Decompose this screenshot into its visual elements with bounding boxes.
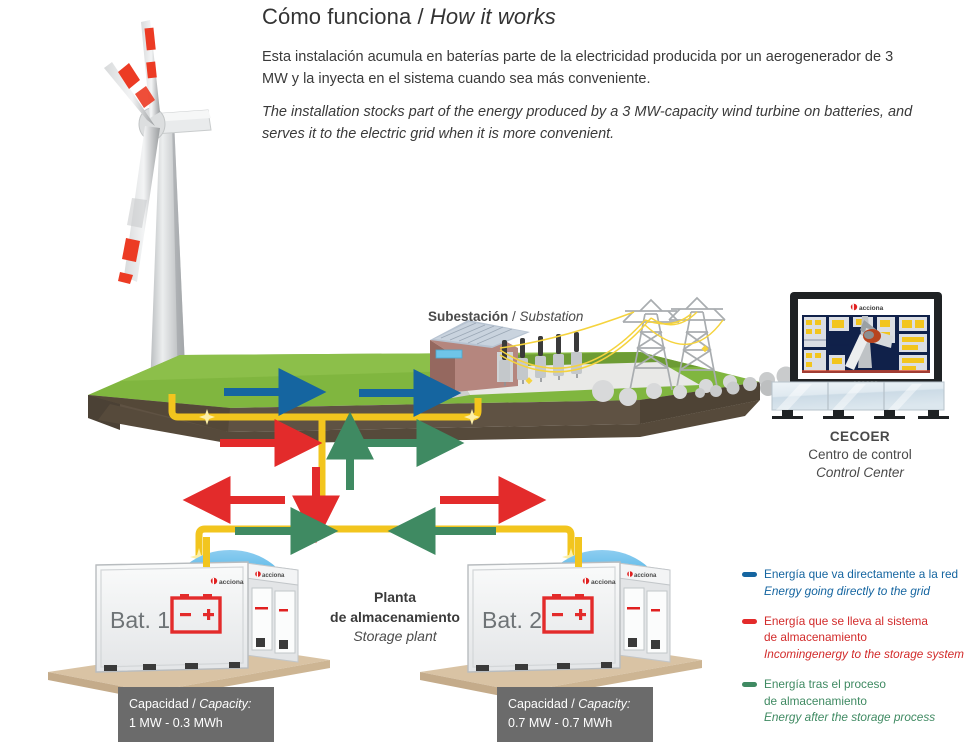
capacity-1-separator: / (189, 697, 199, 711)
legend-blue-en: Energy going directly to the grid (764, 583, 958, 600)
legend-green-es-line2: de almacenamiento (764, 693, 935, 710)
capacity-box-2-title: Capacidad / Capacity: (508, 695, 642, 714)
legend-red-en: Incomingenergy to the storage system (764, 646, 964, 663)
wind-turbine (104, 20, 211, 396)
capacity-2-label-en: Capacity: (578, 697, 630, 711)
infographic-canvas: Cómo funciona / How it works Esta instal… (0, 0, 969, 754)
legend-item-green: Energía tras el proceso de almacenamient… (742, 676, 969, 726)
capacity-1-label-es: Capacidad (129, 697, 189, 711)
svg-text:acciona: acciona (591, 579, 616, 586)
substation-label: Subestación / Substation (428, 309, 583, 324)
storage-label-line1: Planta (320, 588, 470, 608)
control-center-monitor: acciona CECOER (772, 292, 949, 419)
svg-text:acciona: acciona (262, 573, 285, 579)
legend-blue-es: Energía que va directamente a la red (764, 566, 958, 583)
legend-green-en: Energy after the storage process (764, 709, 935, 726)
control-desk (772, 382, 944, 410)
capacity-box-battery-2: Capacidad / Capacity: 0.7 MW - 0.7 MWh (497, 687, 653, 742)
battery-container-1: Bat. 1 acciona acciona (48, 537, 330, 700)
turbine-blades (104, 20, 160, 284)
legend-dash-blue-icon (742, 572, 757, 577)
storage-plant-label: Planta de almacenamiento Storage plant (320, 588, 470, 647)
legend: Energía que va directamente a la red Ene… (742, 566, 969, 739)
legend-dash-red-icon (742, 619, 757, 624)
legend-text-blue: Energía que va directamente a la red Ene… (764, 566, 958, 600)
substation-label-es: Subestación (428, 309, 508, 324)
svg-text:acciona: acciona (219, 579, 244, 586)
substation-label-separator: / (508, 309, 519, 324)
cecoer-title: CECOER (760, 428, 960, 446)
capacity-box-battery-1: Capacidad / Capacity: 1 MW - 0.3 MWh (118, 687, 274, 742)
legend-item-red: Energía que se lleva al sistema de almac… (742, 613, 969, 663)
cecoer-subtitle-en: Control Center (760, 464, 960, 482)
legend-text-red: Energía que se lleva al sistema de almac… (764, 613, 964, 663)
legend-dash-green-icon (742, 682, 757, 687)
storage-label-en: Storage plant (320, 627, 470, 647)
substation-label-en: Substation (520, 309, 584, 324)
capacity-box-2-value: 0.7 MW - 0.7 MWh (508, 714, 642, 733)
capacity-box-1-value: 1 MW - 0.3 MWh (129, 714, 263, 733)
battery-1-label: Bat. 1 (110, 607, 170, 633)
battery-2-label: Bat. 2 (482, 607, 542, 633)
capacity-2-label-es: Capacidad (508, 697, 568, 711)
capacity-box-1-title: Capacidad / Capacity: (129, 695, 263, 714)
cecoer-subtitle-es: Centro de control (760, 446, 960, 464)
legend-red-es-line1: Energía que se lleva al sistema (764, 613, 964, 630)
legend-green-es-line1: Energía tras el proceso (764, 676, 935, 693)
svg-text:acciona: acciona (859, 305, 884, 312)
capacity-2-separator: / (568, 697, 578, 711)
legend-red-es-line2: de almacenamiento (764, 629, 964, 646)
desk-legs (772, 410, 949, 419)
control-center-label: CECOER Centro de control Control Center (760, 428, 960, 483)
svg-text:acciona: acciona (634, 573, 657, 579)
capacity-1-label-en: Capacity: (199, 697, 251, 711)
storage-label-line2: de almacenamiento (320, 608, 470, 628)
legend-item-blue: Energía que va directamente a la red Ene… (742, 566, 969, 600)
legend-text-green: Energía tras el proceso de almacenamient… (764, 676, 935, 726)
